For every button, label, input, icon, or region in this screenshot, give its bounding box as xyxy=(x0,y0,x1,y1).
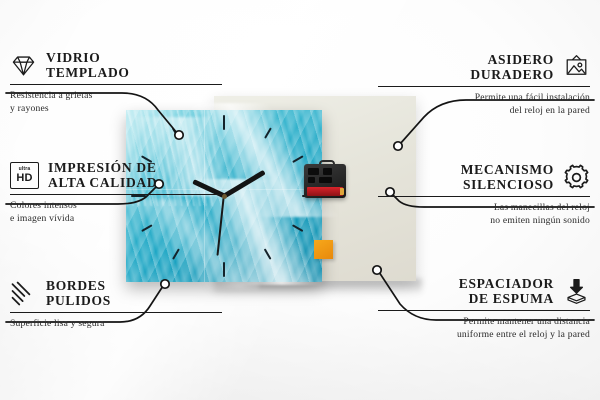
feature-divider xyxy=(378,196,590,197)
feature-title: ASIDERODURADERO xyxy=(470,52,554,82)
feature-description: Resistencia a grietasy rayones xyxy=(10,90,222,115)
feature-divider xyxy=(10,312,222,313)
feature-title: IMPRESIÓN DEALTA CALIDAD xyxy=(48,160,157,190)
feature-divider xyxy=(10,194,222,195)
feature-description: Superficie lisa y segura xyxy=(10,318,222,331)
clock-tick-6 xyxy=(223,262,225,277)
mechanism-slot xyxy=(323,168,332,175)
foam-spacer-icon xyxy=(563,278,590,305)
feature-description: Colores intensose imagen vívida xyxy=(10,200,222,225)
clock-tick-4 xyxy=(292,224,303,231)
ultra-hd-icon: ultra HD xyxy=(10,162,39,189)
feature-divider xyxy=(378,86,590,87)
mechanism-slot xyxy=(308,177,315,183)
feature-description: Las manecillas del relojno emiten ningún… xyxy=(378,202,590,227)
polished-edges-icon xyxy=(10,280,37,307)
feature-header: BORDESPULIDOS xyxy=(10,278,222,308)
feature-divider xyxy=(378,310,590,311)
clock-tick-12 xyxy=(223,115,225,130)
feature-title: MECANISMOSILENCIOSO xyxy=(461,162,554,192)
mechanism-slot xyxy=(308,168,319,175)
clock-mechanism xyxy=(304,160,346,198)
feature-impresion-alta-calidad[interactable]: ultra HD IMPRESIÓN DEALTA CALIDAD Colore… xyxy=(10,160,222,226)
feature-header: VIDRIOTEMPLADO xyxy=(10,50,222,80)
battery-terminal xyxy=(340,188,344,195)
mechanism-body xyxy=(304,164,346,198)
clock-tick-11 xyxy=(172,128,179,139)
gear-icon xyxy=(563,164,590,191)
feature-header: ultra HD IMPRESIÓN DEALTA CALIDAD xyxy=(10,160,222,190)
feature-mecanismo-silencioso[interactable]: MECANISMOSILENCIOSO Las manecillas del r… xyxy=(378,162,590,228)
feature-title: ESPACIADORDE ESPUMA xyxy=(459,276,554,306)
clock-tick-2 xyxy=(292,155,303,162)
mechanism-slot xyxy=(319,177,332,183)
picture-hanger-icon xyxy=(563,54,590,81)
clock-tick-7 xyxy=(172,248,179,259)
feature-header: MECANISMOSILENCIOSO xyxy=(378,162,590,192)
clock-tick-5 xyxy=(264,248,271,259)
foam-spacer xyxy=(314,240,333,259)
diamond-icon xyxy=(10,52,37,79)
feature-title: BORDESPULIDOS xyxy=(46,278,111,308)
infographic-canvas: VIDRIOTEMPLADO Resistencia a grietasy ra… xyxy=(0,0,600,400)
clock-tick-1 xyxy=(264,128,271,139)
feature-description: Permite mantener una distanciauniforme e… xyxy=(378,316,590,341)
feature-description: Permite una fácil instalacióndel reloj e… xyxy=(378,92,590,117)
feature-espaciador-espuma[interactable]: ESPACIADORDE ESPUMA Permite mantener una… xyxy=(378,276,590,342)
clock-center-cap xyxy=(222,194,227,199)
feature-vidrio-templado[interactable]: VIDRIOTEMPLADO Resistencia a grietasy ra… xyxy=(10,50,222,116)
feature-title: VIDRIOTEMPLADO xyxy=(46,50,130,80)
feature-header: ESPACIADORDE ESPUMA xyxy=(378,276,590,306)
feature-divider xyxy=(10,84,222,85)
battery xyxy=(307,187,343,196)
feature-bordes-pulidos[interactable]: BORDESPULIDOS Superficie lisa y segura xyxy=(10,278,222,331)
feature-asidero-duradero[interactable]: ASIDERODURADERO Permite una fácil instal… xyxy=(378,52,590,118)
clock-minute-hand xyxy=(223,170,266,198)
feature-header: ASIDERODURADERO xyxy=(378,52,590,82)
